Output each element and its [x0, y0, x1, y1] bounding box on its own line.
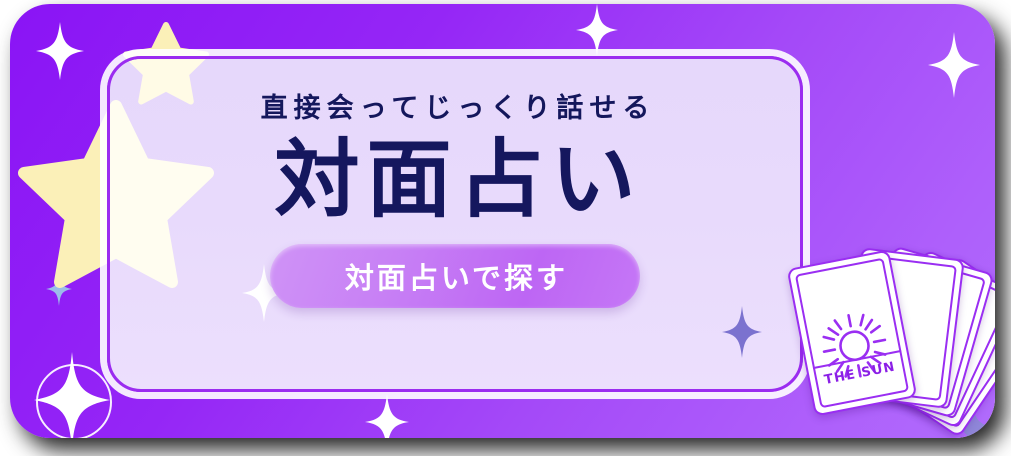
sparkle-icon-top-right	[928, 32, 980, 98]
tarot-card-back-2	[843, 247, 965, 409]
sun-icon	[813, 305, 896, 391]
tarot-card-front-the-sun: THE SUN	[787, 249, 918, 416]
inner-panel: 直接会ってじっくり話せる 対面占い 対面占いで探す	[107, 56, 803, 392]
sparkle-icon-bottom-left	[34, 352, 110, 438]
panel-content: 直接会ってじっくり話せる 対面占い 対面占いで探す	[110, 59, 800, 389]
tarot-card-back-3	[853, 246, 994, 419]
tarot-card-fan: THE SUN	[778, 244, 995, 438]
search-in-person-fortune-button[interactable]: 対面占いで探す	[270, 244, 640, 308]
tarot-card-back-5	[873, 256, 995, 438]
tarot-card-label: THE SUN	[814, 358, 905, 390]
banner-subtitle: 直接会ってじっくり話せる	[255, 95, 656, 122]
sparkle-icon-left-mid	[46, 272, 72, 306]
sparkle-icon-bottom-right	[950, 399, 994, 438]
sparkle-icon-top-left	[36, 22, 84, 80]
promo-banner: 直接会ってじっくり話せる 対面占い 対面占いで探す	[10, 4, 995, 438]
sparkle-ring-bottom-left	[36, 364, 112, 438]
sparkle-icon-panel-right	[802, 117, 803, 191]
banner-title: 対面占い	[267, 136, 642, 226]
tarot-card-face: THE SUN	[795, 258, 909, 409]
sparkle-icon-bottom-center	[365, 394, 409, 438]
tarot-card-back-4	[863, 249, 995, 429]
sparkle-icon-top-center	[576, 4, 618, 56]
tarot-card-divider	[813, 350, 902, 369]
